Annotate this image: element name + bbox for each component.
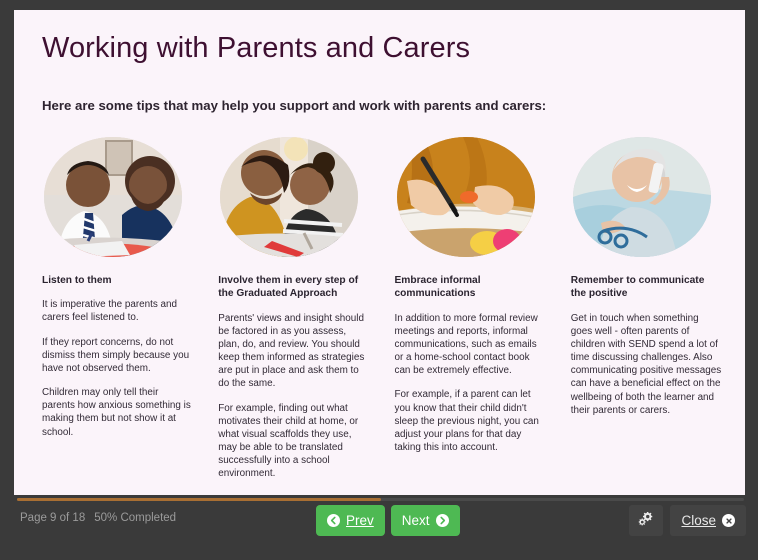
player-control-bar: Page 9 of 1850% Completed Prev Next	[0, 496, 758, 560]
tip-heading: Embrace informal communications	[395, 274, 546, 301]
tip-paragraph: For example, finding out what motivates …	[218, 402, 369, 481]
tip-card-communicate-positive: Remember to communicate the positive Get…	[571, 137, 722, 481]
tip-paragraph: Children may only tell their parents how…	[42, 386, 193, 439]
tip-body: Parents' views and insight should be fac…	[218, 312, 369, 481]
tip-heading: Involve them in every step of the Gradua…	[218, 274, 369, 301]
tip-heading: Listen to them	[42, 274, 193, 287]
tip-card-involve-them: Involve them in every step of the Gradua…	[218, 137, 369, 481]
gears-icon	[638, 512, 655, 530]
chevron-right-circle-icon	[436, 514, 449, 527]
player-tools: Close	[629, 505, 746, 536]
next-button-label: Next	[402, 513, 430, 528]
tip-body: In addition to more formal review meetin…	[395, 312, 546, 455]
tip-card-listen-to-them: Listen to them It is imperative the pare…	[42, 137, 193, 481]
course-player-frame: Working with Parents and Carers Here are…	[0, 0, 758, 560]
slide-subtitle: Here are some tips that may help you sup…	[42, 98, 546, 113]
navigation-buttons: Prev Next	[316, 505, 460, 536]
progress-status-text: Page 9 of 1850% Completed	[20, 512, 176, 524]
tips-row: Listen to them It is imperative the pare…	[42, 137, 722, 481]
settings-button[interactable]	[629, 505, 663, 536]
tip-paragraph: If they report concerns, do not dismiss …	[42, 336, 193, 376]
chevron-left-circle-icon	[327, 514, 340, 527]
prev-button[interactable]: Prev	[316, 505, 385, 536]
tip-body: Get in touch when something goes well - …	[571, 312, 722, 417]
close-button-label: Close	[681, 513, 716, 528]
progress-bar-fill	[17, 498, 381, 501]
tip-paragraph: In addition to more formal review meetin…	[395, 312, 546, 378]
tip-paragraph: Parents' views and insight should be fac…	[218, 312, 369, 391]
tip-card-embrace-informal: Embrace informal communications In addit…	[395, 137, 546, 481]
close-circle-icon	[722, 514, 735, 527]
page-counter-label: Page 9 of 18	[20, 512, 85, 524]
schoolboy-and-father-reviewing-paperwork-photo	[44, 137, 182, 257]
next-button[interactable]: Next	[391, 505, 460, 536]
tip-paragraph: For example, if a parent can let you kno…	[395, 388, 546, 454]
smiling-woman-on-phone-holding-glasses-photo	[573, 137, 711, 257]
page-title: Working with Parents and Carers	[42, 32, 470, 65]
tip-heading: Remember to communicate the positive	[571, 274, 722, 301]
completion-label: 50% Completed	[94, 512, 176, 524]
tip-paragraph: Get in touch when something goes well - …	[571, 312, 722, 417]
tip-paragraph: It is imperative the parents and carers …	[42, 298, 193, 324]
tip-body: It is imperative the parents and carers …	[42, 298, 193, 439]
progress-bar-track[interactable]	[17, 498, 744, 501]
mother-helping-young-child-write-photo	[220, 137, 358, 257]
close-button[interactable]: Close	[670, 505, 746, 536]
close-up-of-child-hands-writing-with-pen-photo	[397, 137, 535, 257]
slide-content-panel: Working with Parents and Carers Here are…	[14, 10, 745, 495]
prev-button-label: Prev	[346, 513, 374, 528]
